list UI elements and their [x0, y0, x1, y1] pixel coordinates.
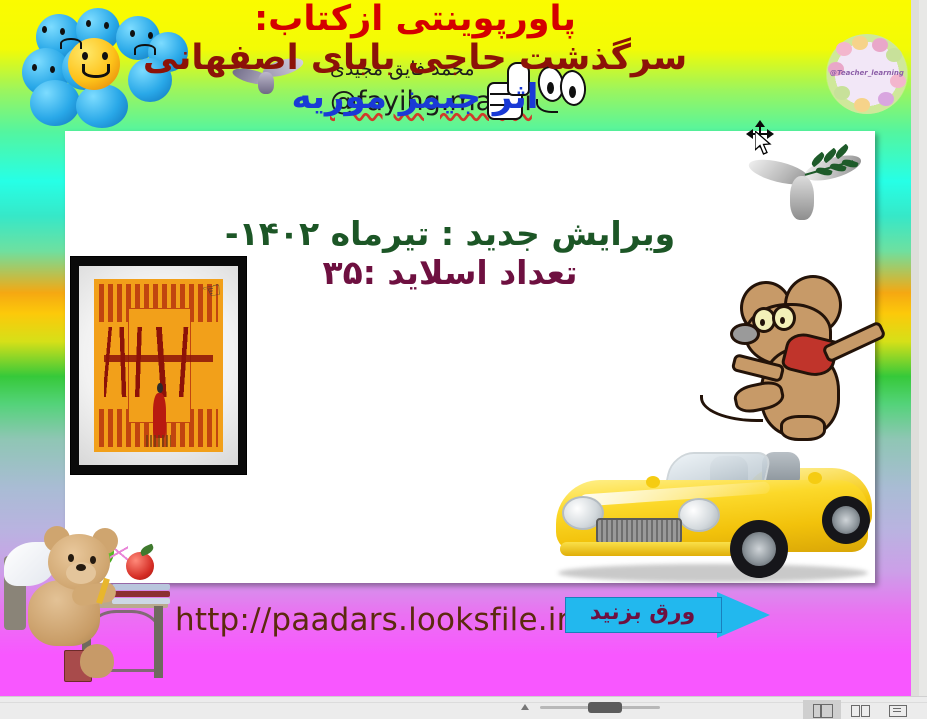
cartoon-mouse-icon [718, 275, 893, 450]
zoom-slider-handle[interactable] [588, 702, 622, 713]
title-line-1: پاورپوینتی ازکتاب: [70, 0, 760, 39]
zoom-tick-marker [521, 704, 529, 710]
book-figure [153, 393, 166, 438]
status-bar-divider [0, 702, 927, 703]
reading-view-icon [889, 704, 907, 716]
floral-badge-icon: @Teacher_learning [826, 34, 908, 114]
book-cover-image[interactable]: ☜ [70, 256, 247, 475]
website-url[interactable]: http://paadars.looksfile.ir [175, 602, 570, 638]
view-buttons-group [803, 700, 917, 719]
yellow-convertible-car-icon [550, 446, 880, 584]
subtitle-line-1: ویرایش جدید : تیرماه ۱۴۰۲- [170, 215, 730, 254]
title-line-3: اثر جیمز موریه [70, 78, 760, 116]
slide-sorter-icon [851, 704, 869, 716]
badge-label: @Teacher_learning [826, 69, 908, 77]
slide-title-block[interactable]: پاورپوینتی ازکتاب: سرگذشت حاجی بابای اصف… [70, 0, 760, 116]
hand-pointer-icon: ☜ [201, 278, 224, 306]
normal-view-icon [813, 704, 831, 716]
slide-canvas[interactable]: محمد فایق مجیدی @fayihg.majidi @Teacher_… [0, 0, 919, 697]
slide-subtitle-block[interactable]: ویرایش جدید : تیرماه ۱۴۰۲- تعداد اسلاید … [170, 215, 730, 293]
arrow-banner-label: ورق بزنید [565, 600, 720, 625]
arrow-cursor-icon [755, 131, 773, 157]
arrow-head [717, 592, 770, 638]
turn-page-arrow-banner[interactable]: ورق بزنید [565, 592, 770, 638]
dove-olive-branch-icon [748, 152, 868, 240]
powerpoint-window: محمد فایق مجیدی @fayihg.majidi @Teacher_… [0, 0, 927, 719]
book-publisher-mark [146, 435, 172, 447]
title-line-2: سرگذشت حاجی بابای اصفهانی [70, 39, 760, 78]
teddy-bear-desk-icon [0, 498, 190, 688]
subtitle-line-2: تعداد اسلاید :۳۵ [170, 254, 730, 293]
status-bar [0, 696, 927, 719]
slide-sorter-view-button[interactable] [841, 700, 879, 719]
canvas-right-edge [911, 0, 919, 697]
reading-view-button[interactable] [879, 700, 917, 719]
normal-view-button[interactable] [803, 700, 841, 719]
